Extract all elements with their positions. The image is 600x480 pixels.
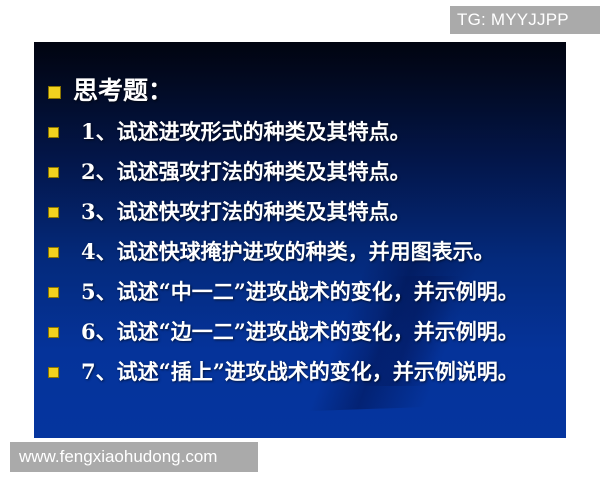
slide-list-item-6: 6、试述“边一二”进攻战术的变化，并示例明。: [34, 316, 566, 348]
slide-list-item-text: 3、试述快攻打法的种类及其特点。: [81, 196, 411, 228]
screenshot-root: TG: MYYJJPP 思考题： 1、试述进攻形式的种类及其特点。 2、试述强攻…: [0, 0, 600, 480]
presentation-slide: 思考题： 1、试述进攻形式的种类及其特点。 2、试述强攻打法的种类及其特点。 3…: [34, 42, 566, 438]
slide-title: 思考题：: [73, 74, 173, 108]
slide-list-item-1: 1、试述进攻形式的种类及其特点。: [34, 116, 566, 148]
square-bullet-icon: [48, 167, 59, 178]
slide-list-item-text: 5、试述“中一二”进攻战术的变化，并示例明。: [81, 276, 519, 308]
square-bullet-icon: [48, 86, 61, 99]
square-bullet-icon: [48, 247, 59, 258]
site-watermark-badge: www.fengxiaohudong.com: [10, 442, 258, 472]
square-bullet-icon: [48, 287, 59, 298]
square-bullet-icon: [48, 327, 59, 338]
slide-title-row: 思考题：: [34, 74, 566, 108]
square-bullet-icon: [48, 367, 59, 378]
square-bullet-icon: [48, 207, 59, 218]
slide-list-item-7: 7、试述“插上”进攻战术的变化，并示例说明。: [34, 356, 566, 388]
slide-list-item-4: 4、试述快球掩护进攻的种类，并用图表示。: [34, 236, 566, 268]
slide-list-item-3: 3、试述快攻打法的种类及其特点。: [34, 196, 566, 228]
slide-list-item-5: 5、试述“中一二”进攻战术的变化，并示例明。: [34, 276, 566, 308]
slide-list-item-text: 6、试述“边一二”进攻战术的变化，并示例明。: [81, 316, 519, 348]
slide-content: 思考题： 1、试述进攻形式的种类及其特点。 2、试述强攻打法的种类及其特点。 3…: [34, 74, 566, 388]
slide-list-item-text: 7、试述“插上”进攻战术的变化，并示例说明。: [81, 356, 519, 388]
slide-list-item-2: 2、试述强攻打法的种类及其特点。: [34, 156, 566, 188]
slide-list-item-text: 2、试述强攻打法的种类及其特点。: [81, 156, 411, 188]
slide-list-item-text: 1、试述进攻形式的种类及其特点。: [81, 116, 411, 148]
square-bullet-icon: [48, 127, 59, 138]
telegram-watermark-badge: TG: MYYJJPP: [450, 6, 600, 34]
slide-list-item-text: 4、试述快球掩护进攻的种类，并用图表示。: [81, 236, 495, 268]
